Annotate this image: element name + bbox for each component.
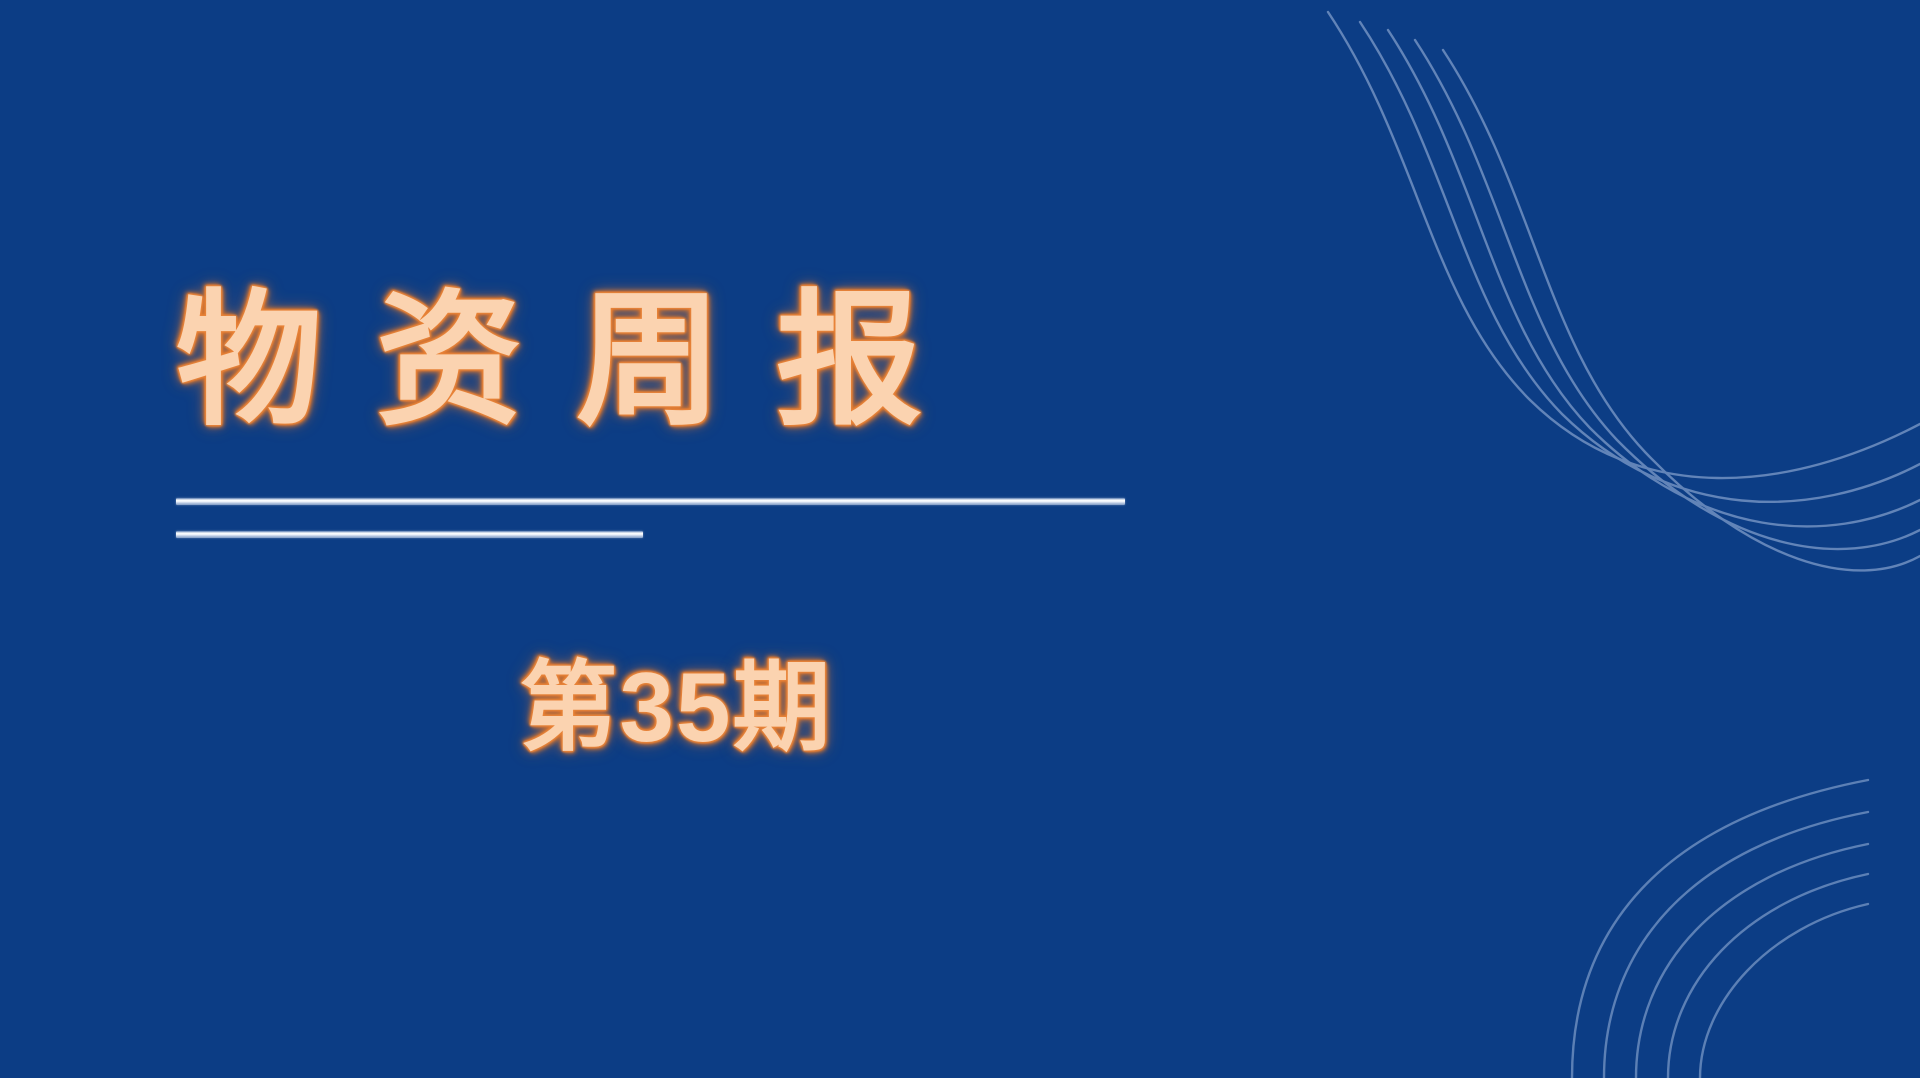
issue-number: 第35期 (519, 650, 832, 766)
page-title: 物资周报 (176, 282, 1176, 440)
title-underline-long (176, 498, 1125, 505)
title-underlines (176, 498, 1176, 538)
wave-lines-top-right-icon (0, 0, 1920, 1078)
title-underline-short (176, 531, 643, 538)
subtitle-block: 第35期 (176, 650, 1176, 766)
arc-lines-bottom-right-icon (0, 0, 1920, 1078)
title-block: 物资周报 (176, 282, 1176, 440)
slide-root: 物资周报 第35期 (0, 0, 1920, 1078)
